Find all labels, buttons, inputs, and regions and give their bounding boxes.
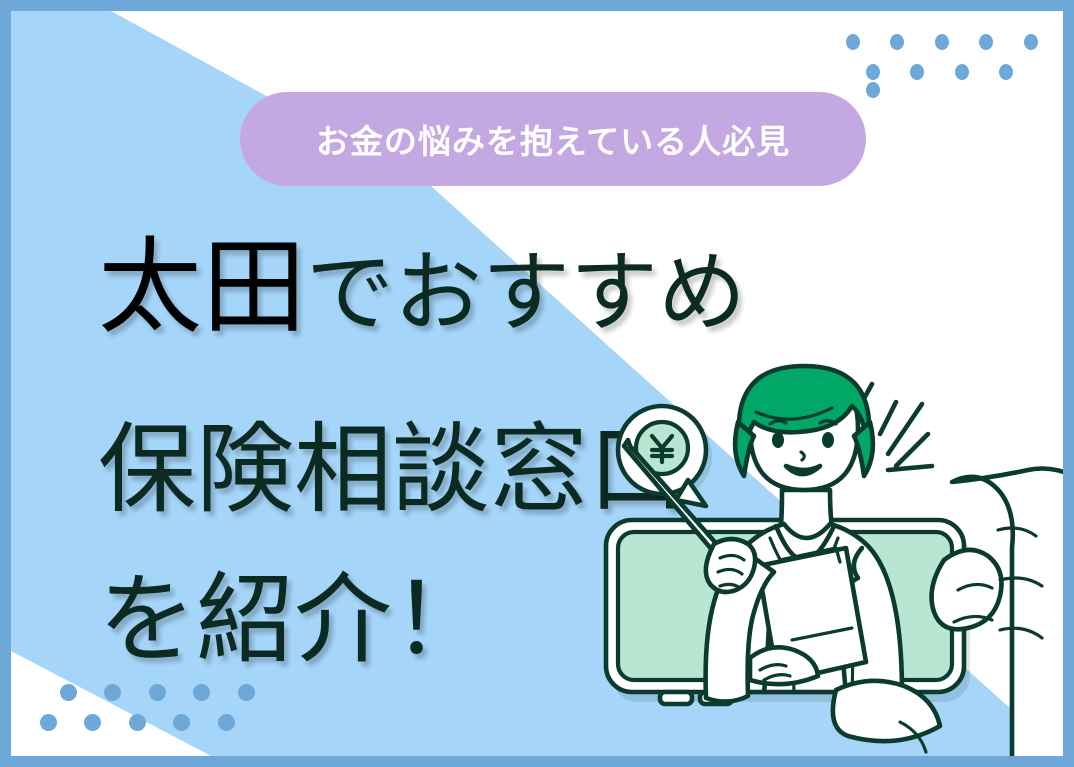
dot-row [40, 714, 278, 744]
frame-border-right [1063, 0, 1074, 767]
decorative-dot [129, 714, 146, 731]
decorative-dot [955, 64, 969, 80]
decorative-dot [84, 714, 101, 731]
eyebrow-badge: お金の悩みを抱えている人必見 [240, 92, 866, 186]
banner-canvas: お金の悩みを抱えている人必見 太田でおすすめ 保険相談窓口 を紹介！ .ln {… [0, 0, 1074, 767]
dot-row [846, 34, 1074, 64]
advisor-illustration-svg: .ln { fill:none; stroke:#0b3b2e; stroke-… [600, 362, 1074, 767]
character-hand-grip [706, 539, 755, 592]
decorative-dot [910, 64, 924, 80]
headline-line-1-rest: でおすすめ [306, 243, 746, 342]
frame-border-top [0, 0, 1074, 11]
decorative-dot [999, 64, 1013, 80]
frame-border-bottom [0, 756, 1074, 767]
frame-border-left [0, 0, 11, 767]
dot-row [846, 64, 1074, 94]
decorative-dot [890, 34, 904, 50]
eyebrow-badge-text: お金の悩みを抱えている人必見 [240, 92, 866, 186]
character-eye-left [772, 432, 784, 448]
character-eye-right [822, 432, 834, 448]
decorative-dot [935, 34, 949, 50]
decorative-dot [40, 714, 57, 731]
decorative-dot [846, 34, 860, 50]
phone-button [660, 692, 692, 704]
decorative-dot [866, 82, 880, 98]
advisor-illustration: .ln { fill:none; stroke:#0b3b2e; stroke-… [600, 362, 1074, 767]
decorative-dot [60, 684, 77, 701]
headline-accent-region: 太田 [98, 230, 306, 346]
decorative-dot [1024, 34, 1038, 50]
dot-grid-top-right [846, 34, 1074, 94]
decorative-dot [173, 714, 190, 731]
decorative-dot [866, 64, 880, 80]
decorative-dot [218, 714, 235, 731]
decorative-dot [979, 34, 993, 50]
